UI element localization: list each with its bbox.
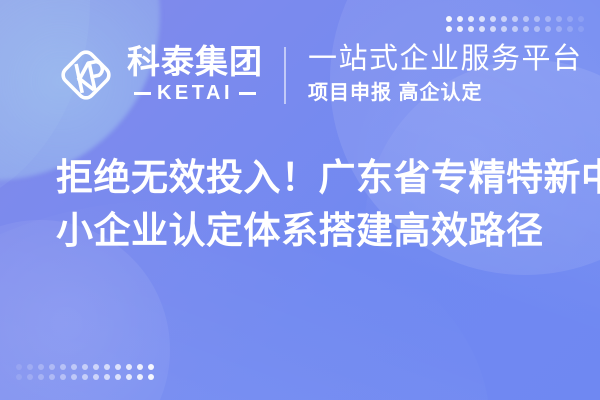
decor-dot: [27, 374, 33, 380]
decor-dot: [556, 26, 562, 32]
decor-dot: [38, 374, 44, 380]
decor-dot: [490, 26, 496, 32]
decor-dot: [82, 374, 88, 380]
brand-divider: [284, 47, 286, 104]
decor-dot: [501, 16, 507, 22]
decor-dot: [479, 26, 485, 32]
decor-dot: [512, 16, 518, 22]
decor-dot: [479, 16, 485, 22]
decor-dot: [115, 374, 121, 380]
brand-rule-left: [134, 92, 151, 95]
decor-dot: [578, 16, 584, 22]
decor-dot: [468, 26, 474, 32]
decor-dot: [126, 374, 132, 380]
decor-dot: [27, 364, 33, 370]
decor-dot-grid-bottom-left: [16, 364, 154, 380]
decor-dot: [93, 364, 99, 370]
decor-dot: [534, 16, 540, 22]
decor-dot: [523, 26, 529, 32]
decor-dot: [148, 364, 154, 370]
decor-dot: [16, 374, 22, 380]
decor-dot: [93, 374, 99, 380]
decor-dot: [148, 374, 154, 380]
decor-dot: [556, 16, 562, 22]
decor-dot: [545, 26, 551, 32]
decor-dot: [534, 26, 540, 32]
decor-dot: [16, 364, 22, 370]
decor-dot: [457, 26, 463, 32]
decor-dot: [457, 16, 463, 22]
headline-block: 拒绝无效投入！广东省专精特新中 小企业认定体系搭建高效路径: [56, 152, 556, 257]
brand-name-en-row: KETAI: [127, 82, 263, 105]
tagline-block: 一站式企业服务平台 项目申报 高企认定: [308, 43, 583, 107]
promo-banner: 科泰集团 KETAI 一站式企业服务平台 项目申报 高企认定 拒绝无效投入！广东…: [0, 0, 600, 400]
decor-dot: [115, 364, 121, 370]
brand-text: 科泰集团 KETAI: [127, 45, 263, 106]
decor-dot: [71, 364, 77, 370]
decor-dot: [545, 16, 551, 22]
banner-header: 科泰集团 KETAI 一站式企业服务平台 项目申报 高企认定: [0, 38, 600, 112]
decor-dot: [578, 26, 584, 32]
decor-dot: [49, 374, 55, 380]
decor-dot: [137, 364, 143, 370]
decor-dot: [567, 16, 573, 22]
decor-dot: [512, 26, 518, 32]
headline-line-2: 小企业认定体系搭建高效路径: [56, 205, 556, 258]
headline-line-1: 拒绝无效投入！广东省专精特新中: [56, 152, 556, 205]
decor-dot: [501, 26, 507, 32]
decor-dot: [446, 26, 452, 32]
tagline-main: 一站式企业服务平台: [308, 43, 583, 76]
decor-dot: [468, 16, 474, 22]
decor-dot: [104, 364, 110, 370]
decor-dot: [38, 364, 44, 370]
decor-dot: [446, 16, 452, 22]
decor-dot: [126, 364, 132, 370]
decor-dot: [71, 374, 77, 380]
ketai-diamond-monogram-icon: [55, 44, 117, 106]
decor-dot: [567, 26, 573, 32]
decor-dot: [82, 364, 88, 370]
tagline-sub: 项目申报 高企认定: [308, 80, 583, 107]
brand-name-en: KETAI: [157, 82, 233, 105]
decor-dot: [60, 364, 66, 370]
decor-dot: [137, 374, 143, 380]
decor-dot: [523, 16, 529, 22]
decor-dot: [60, 374, 66, 380]
decor-dot: [49, 364, 55, 370]
brand-lockup: 科泰集团 KETAI: [55, 44, 263, 106]
decor-dot-grid-top-right: [446, 16, 584, 32]
decor-dot: [490, 16, 496, 22]
brand-name-cn: 科泰集团: [127, 45, 263, 80]
brand-rule-right: [239, 92, 256, 95]
decor-dot: [104, 374, 110, 380]
